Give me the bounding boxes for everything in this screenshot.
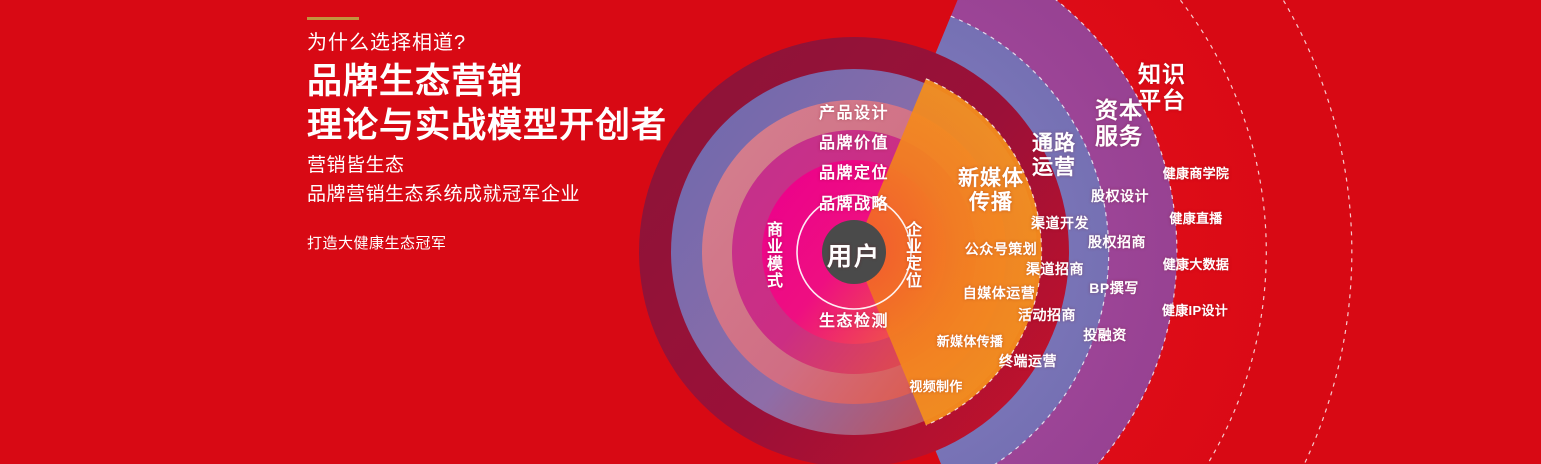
- subtitle-line-2: 品牌营销生态系统成就冠军企业: [307, 181, 580, 210]
- subtitle-text: 营销皆生态 品牌营销生态系统成就冠军企业: [307, 152, 580, 210]
- headline-line-2: 理论与实战模型开创者: [307, 104, 667, 148]
- tagline-text: 打造大健康生态冠军: [307, 232, 447, 253]
- headline-line-1: 品牌生态营销: [307, 62, 523, 101]
- gold-accent-rule: [307, 17, 359, 20]
- page-title: 品牌生态营销 理论与实战模型开创者: [307, 60, 667, 148]
- subtitle-line-1: 营销皆生态: [307, 155, 405, 176]
- headline-text-block: 为什么选择相道? 品牌生态营销 理论与实战模型开创者 营销皆生态 品牌营销生态系…: [307, 0, 947, 464]
- banner-stage: 为什么选择相道? 品牌生态营销 理论与实战模型开创者 营销皆生态 品牌营销生态系…: [0, 0, 1541, 464]
- eyebrow-text: 为什么选择相道?: [307, 26, 466, 55]
